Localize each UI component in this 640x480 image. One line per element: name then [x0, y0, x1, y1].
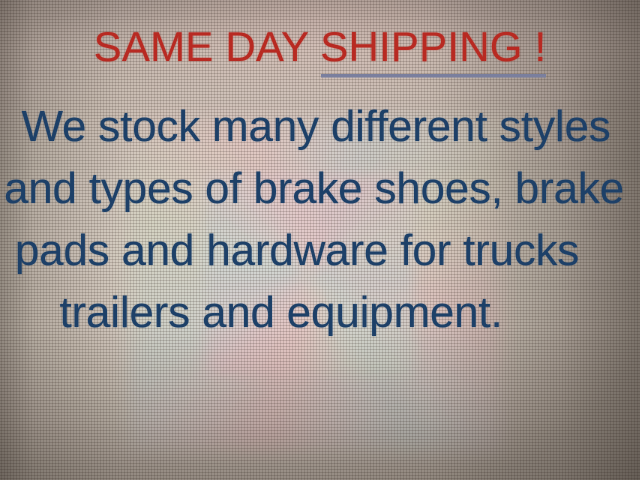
body-paragraph: We stock many different styles and types… [0, 96, 640, 344]
photographed-screen-slide: SAME DAY SHIPPING ! We stock many differ… [0, 0, 640, 480]
body-line: and types of brake shoes, brake [0, 158, 634, 220]
body-line: trailers and equipment. [0, 282, 601, 344]
slide-content: SAME DAY SHIPPING ! We stock many differ… [0, 0, 640, 480]
headline-emphasis-underlined: SHIPPING ! [320, 23, 546, 72]
body-line: pads and hardware for trucks [0, 220, 617, 282]
body-line: We stock many different styles [0, 96, 636, 158]
headline: SAME DAY SHIPPING ! [0, 23, 640, 71]
headline-prefix: SAME DAY [94, 23, 321, 70]
